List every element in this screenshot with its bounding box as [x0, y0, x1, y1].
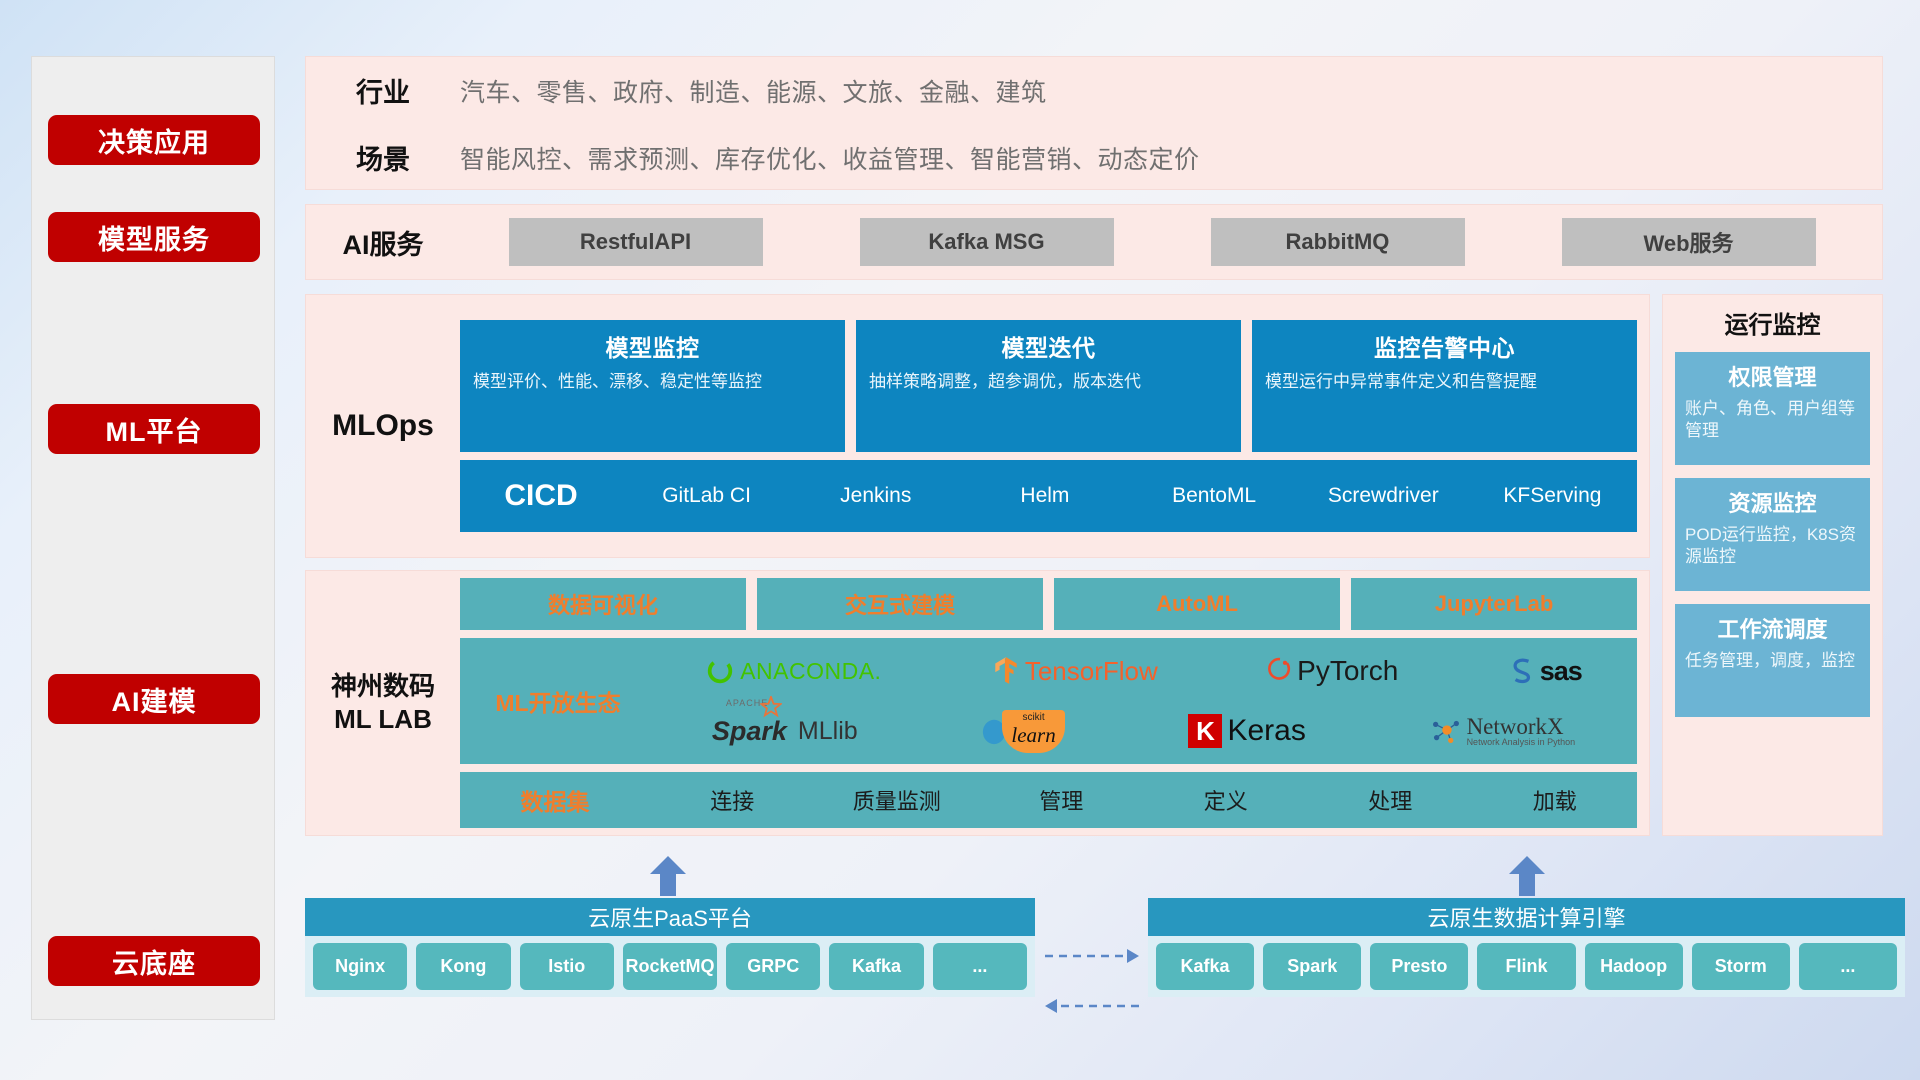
pytorch-logo: PyTorch [1268, 655, 1398, 687]
dataset-item-define[interactable]: 定义 [1144, 784, 1309, 816]
ecosystem-logo-row-2: APACHE Spark MLlib [650, 703, 1637, 760]
runtime-monitoring-band: 运行监控 权限管理 账户、角色、用户组等管理 资源监控 POD运行监控，K8S资… [1662, 294, 1883, 836]
dataset-item-process[interactable]: 处理 [1308, 784, 1473, 816]
data-chip-kafka[interactable]: Kafka [1156, 943, 1254, 990]
cloud-native-paas-chip-list: Nginx Kong Istio RocketMQ GRPC Kafka ... [305, 936, 1035, 997]
data-chip-presto[interactable]: Presto [1370, 943, 1468, 990]
spark-mllib-logo: APACHE Spark MLlib [712, 716, 858, 747]
anaconda-logo-text: ANACONDA. [740, 658, 881, 685]
monitor-card-desc: 任务管理，调度，监控 [1685, 650, 1860, 672]
ml-open-ecosystem-row: ML开放生态 ANACONDA. [460, 638, 1637, 764]
monitor-card-resource-monitoring[interactable]: 资源监控 POD运行监控，K8S资源监控 [1675, 478, 1870, 591]
ai-service-chip-rabbitmq[interactable]: RabbitMQ [1211, 218, 1465, 266]
mlops-card-desc: 模型运行中异常事件定义和告警提醒 [1265, 371, 1624, 393]
monitor-card-permission-management[interactable]: 权限管理 账户、角色、用户组等管理 [1675, 352, 1870, 465]
mlops-card-list: 模型监控 模型评价、性能、漂移、稳定性等监控 模型迭代 抽样策略调整，超参调优，… [460, 320, 1637, 452]
learn-text: learn [1011, 723, 1055, 748]
monitor-card-title: 权限管理 [1685, 360, 1860, 392]
networkx-subtitle: Network Analysis in Python [1467, 738, 1576, 747]
cicd-item-bentoml[interactable]: BentoML [1130, 484, 1299, 508]
networkx-logo: NetworkX Network Analysis in Python [1430, 715, 1576, 748]
ecosystem-logo-grid: ANACONDA. TensorFlow [650, 643, 1637, 760]
cicd-item-jenkins[interactable]: Jenkins [791, 484, 960, 508]
data-chip-hadoop[interactable]: Hadoop [1585, 943, 1683, 990]
ai-service-chip-restfulapi[interactable]: RestfulAPI [509, 218, 763, 266]
bidirectional-link-arrows [1043, 944, 1141, 1032]
ai-service-chip-list: RestfulAPI Kafka MSG RabbitMQ Web服务 [460, 218, 1882, 266]
cicd-item-screwdriver[interactable]: Screwdriver [1299, 484, 1468, 508]
mlops-card-title: 监控告警中心 [1265, 329, 1624, 363]
ml-open-ecosystem-label: ML开放生态 [460, 684, 650, 718]
cloud-native-data-engine-block: 云原生数据计算引擎 Kafka Spark Presto Flink Hadoo… [1148, 898, 1905, 997]
up-arrow-icon-left [649, 856, 687, 896]
ai-service-band: AI服务 RestfulAPI Kafka MSG RabbitMQ Web服务 [305, 204, 1883, 280]
industry-values: 汽车、零售、政府、制造、能源、文旅、金融、建筑 [460, 73, 1047, 109]
cloud-chip-nginx[interactable]: Nginx [313, 943, 407, 990]
cloud-chip-rocketmq[interactable]: RocketMQ [623, 943, 717, 990]
scikit-text: scikit [1011, 712, 1055, 723]
ai-service-chip-web[interactable]: Web服务 [1562, 218, 1816, 266]
cloud-chip-more[interactable]: ... [933, 943, 1027, 990]
networkx-logo-text: NetworkX [1467, 715, 1576, 738]
layer-rail: 决策应用 模型服务 ML平台 AI建模 云底座 [31, 56, 275, 1020]
industry-key: 行业 [306, 71, 460, 110]
dataset-item-connect[interactable]: 连接 [650, 784, 815, 816]
scenario-values: 智能风控、需求预测、库存优化、收益管理、智能营销、动态定价 [460, 140, 1200, 176]
rail-item-ml-platform[interactable]: ML平台 [48, 404, 260, 454]
industry-scenario-band: 行业 汽车、零售、政府、制造、能源、文旅、金融、建筑 场景 智能风控、需求预测、… [305, 56, 1883, 190]
cicd-bar: CICD GitLab CI Jenkins Helm BentoML Scre… [460, 460, 1637, 532]
rail-item-model-service[interactable]: 模型服务 [48, 212, 260, 262]
cicd-item-helm[interactable]: Helm [960, 484, 1129, 508]
pytorch-logo-text: PyTorch [1297, 655, 1398, 687]
keras-mark: K [1188, 714, 1222, 748]
mlops-band: MLOps 模型监控 模型评价、性能、漂移、稳定性等监控 模型迭代 抽样策略调整… [305, 294, 1650, 558]
mlops-label: MLOps [306, 409, 460, 443]
cloud-native-data-engine-title: 云原生数据计算引擎 [1148, 898, 1905, 936]
ml-lab-body: 数据可视化 交互式建模 AutoML JupyterLab ML开放生态 ANA… [460, 578, 1649, 828]
rail-item-cloud-base[interactable]: 云底座 [48, 936, 260, 986]
rail-item-ai-modeling[interactable]: AI建模 [48, 674, 260, 724]
mlops-body: 模型监控 模型评价、性能、漂移、稳定性等监控 模型迭代 抽样策略调整，超参调优，… [460, 320, 1649, 532]
scikit-learn-logo: scikit learn [981, 710, 1064, 753]
anaconda-logo: ANACONDA. [705, 656, 881, 686]
ai-service-chip-kafka-msg[interactable]: Kafka MSG [860, 218, 1114, 266]
up-arrow-icon-right [1508, 856, 1546, 896]
mlops-card-desc: 抽样策略调整，超参调优，版本迭代 [869, 371, 1228, 393]
dataset-title: 数据集 [460, 783, 650, 817]
data-chip-storm[interactable]: Storm [1692, 943, 1790, 990]
tool-chip-jupyterlab[interactable]: JupyterLab [1351, 578, 1637, 630]
monitor-card-desc: 账户、角色、用户组等管理 [1685, 398, 1860, 442]
industry-row: 行业 汽车、零售、政府、制造、能源、文旅、金融、建筑 [306, 57, 1882, 124]
cicd-title: CICD [460, 479, 622, 513]
ecosystem-logo-row-1: ANACONDA. TensorFlow [650, 643, 1637, 700]
keras-logo: K Keras [1188, 714, 1305, 748]
monitor-card-title: 工作流调度 [1685, 612, 1860, 644]
cloud-native-paas-block: 云原生PaaS平台 Nginx Kong Istio RocketMQ GRPC… [305, 898, 1035, 997]
dataset-row: 数据集 连接 质量监测 管理 定义 处理 加载 [460, 772, 1637, 828]
mlops-card-model-monitoring[interactable]: 模型监控 模型评价、性能、漂移、稳定性等监控 [460, 320, 845, 452]
dataset-item-load[interactable]: 加载 [1473, 784, 1638, 816]
monitor-card-title: 资源监控 [1685, 486, 1860, 518]
ml-lab-label: 神州数码 ML LAB [306, 670, 460, 736]
mlops-card-alert-center[interactable]: 监控告警中心 模型运行中异常事件定义和告警提醒 [1252, 320, 1637, 452]
sas-logo: sas [1509, 656, 1582, 687]
mlops-card-desc: 模型评价、性能、漂移、稳定性等监控 [473, 371, 832, 393]
cloud-native-paas-title: 云原生PaaS平台 [305, 898, 1035, 936]
dataset-item-manage[interactable]: 管理 [979, 784, 1144, 816]
data-chip-more[interactable]: ... [1799, 943, 1897, 990]
cloud-chip-kong[interactable]: Kong [416, 943, 510, 990]
ml-lab-tool-list: 数据可视化 交互式建模 AutoML JupyterLab [460, 578, 1637, 630]
monitor-card-desc: POD运行监控，K8S资源监控 [1685, 524, 1860, 568]
cloud-chip-kafka[interactable]: Kafka [829, 943, 923, 990]
mllib-logo-text: MLlib [798, 717, 858, 746]
cloud-chip-istio[interactable]: Istio [520, 943, 614, 990]
mlops-card-title: 模型监控 [473, 329, 832, 363]
ai-service-label: AI服务 [306, 223, 460, 262]
sas-logo-text: sas [1540, 656, 1582, 687]
data-chip-spark[interactable]: Spark [1263, 943, 1361, 990]
cloud-native-data-engine-chip-list: Kafka Spark Presto Flink Hadoop Storm ..… [1148, 936, 1905, 997]
scenario-row: 场景 智能风控、需求预测、库存优化、收益管理、智能营销、动态定价 [306, 124, 1882, 191]
runtime-monitoring-title: 运行监控 [1675, 305, 1870, 340]
tensorflow-logo-text: TensorFlow [1025, 656, 1158, 687]
ai-modeling-band: 神州数码 ML LAB 数据可视化 交互式建模 AutoML JupyterLa… [305, 570, 1650, 836]
cicd-item-gitlab-ci[interactable]: GitLab CI [622, 484, 791, 508]
spark-logo-text: Spark [712, 716, 787, 747]
tensorflow-logo: TensorFlow [992, 656, 1158, 687]
keras-logo-text: Keras [1227, 714, 1305, 748]
tool-chip-automl[interactable]: AutoML [1054, 578, 1340, 630]
scenario-key: 场景 [306, 138, 460, 177]
cicd-item-kfserving[interactable]: KFServing [1468, 484, 1637, 508]
dataset-item-quality-monitor[interactable]: 质量监测 [815, 784, 980, 816]
data-chip-flink[interactable]: Flink [1477, 943, 1575, 990]
mlops-card-model-iteration[interactable]: 模型迭代 抽样策略调整，超参调优，版本迭代 [856, 320, 1241, 452]
monitor-card-workflow-scheduling[interactable]: 工作流调度 任务管理，调度，监控 [1675, 604, 1870, 717]
ml-lab-label-line2: ML LAB [306, 703, 460, 736]
tool-chip-interactive-modeling[interactable]: 交互式建模 [757, 578, 1043, 630]
mlops-card-title: 模型迭代 [869, 329, 1228, 363]
rail-item-decision-app[interactable]: 决策应用 [48, 115, 260, 165]
ml-lab-label-line1: 神州数码 [306, 670, 460, 703]
tool-chip-data-visualization[interactable]: 数据可视化 [460, 578, 746, 630]
cloud-chip-grpc[interactable]: GRPC [726, 943, 820, 990]
